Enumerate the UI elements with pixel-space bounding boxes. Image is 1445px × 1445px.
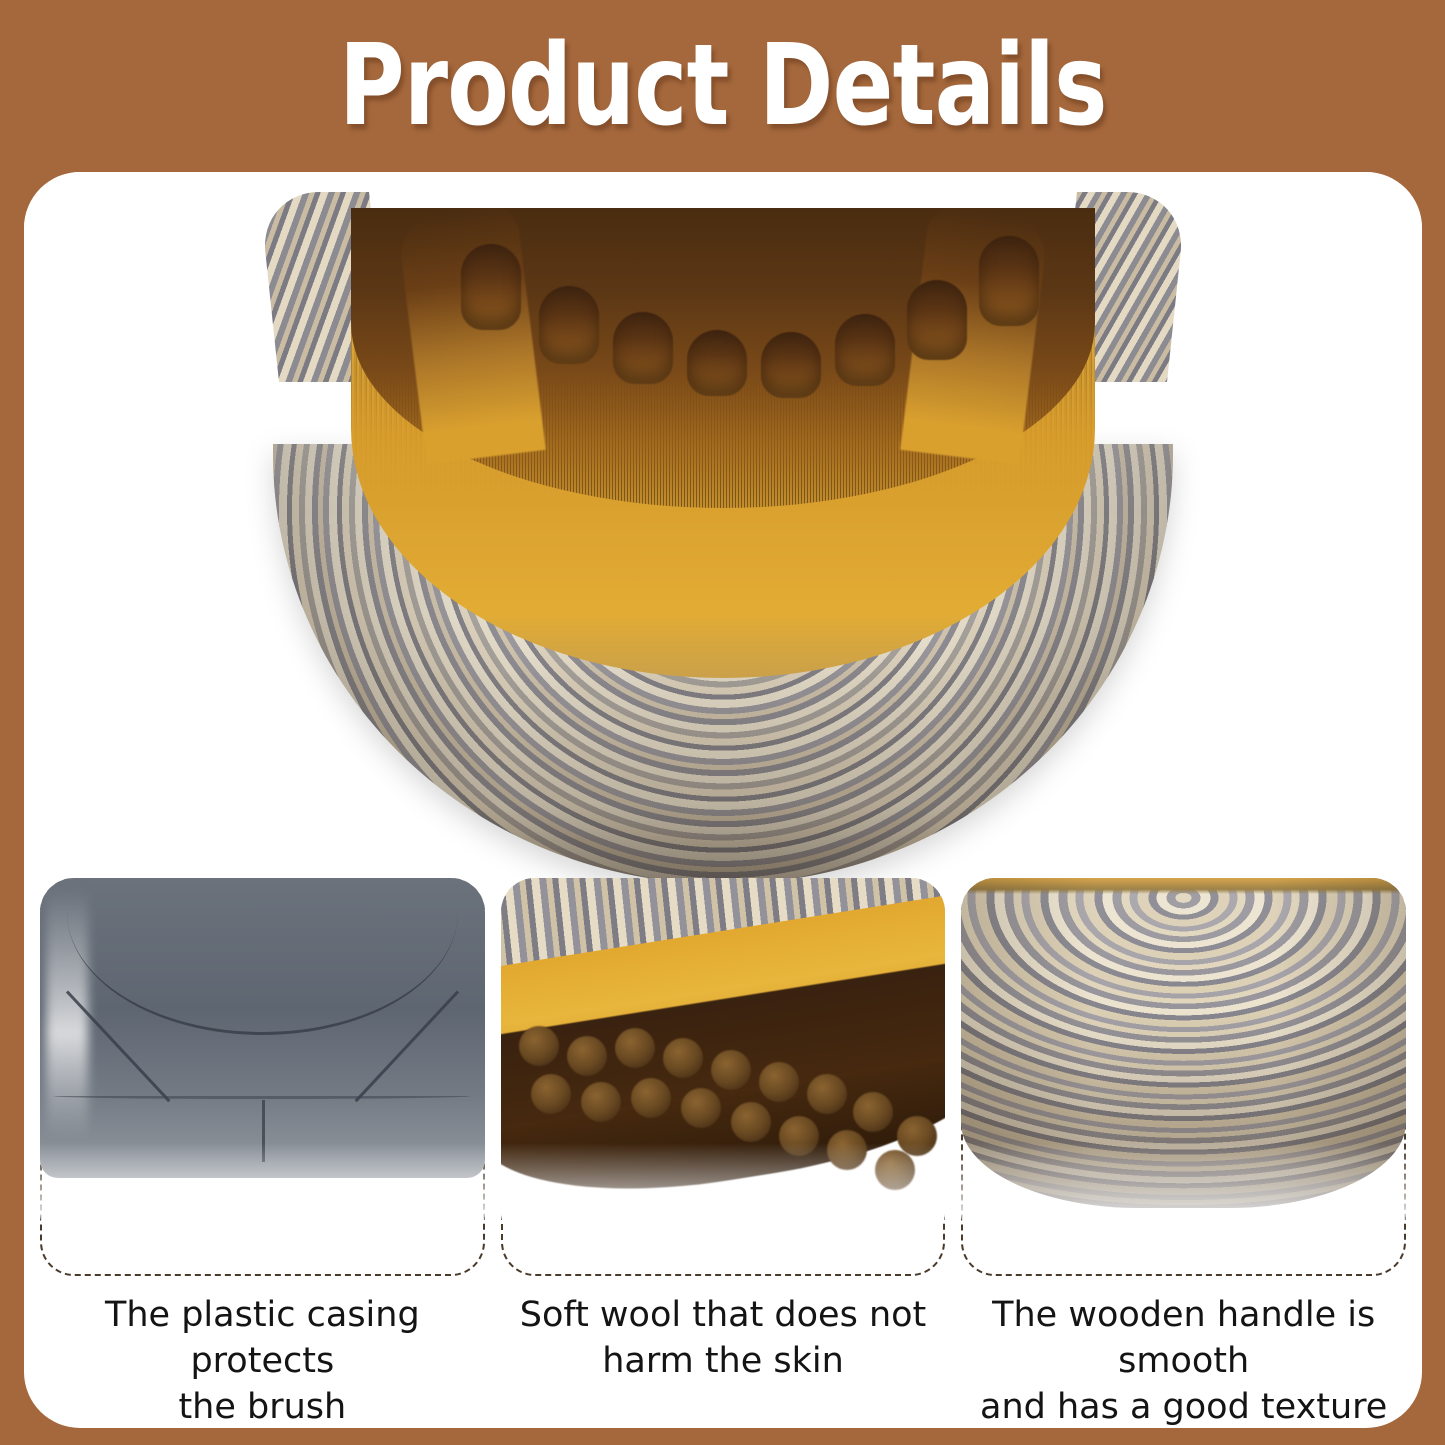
- bristle-nub: [897, 1116, 937, 1156]
- hero-image: [24, 172, 1422, 878]
- page-title: Product Details: [339, 30, 1107, 142]
- bristle-nub: [663, 1038, 703, 1078]
- wood-macro-gold-edge: [961, 878, 1406, 894]
- plastic-seam-diagonal-right: [355, 990, 459, 1102]
- brush-illustration: [273, 194, 1173, 878]
- bristle-nub: [875, 1150, 915, 1190]
- bristle-macro-scene: [501, 878, 946, 1246]
- bristle-nub: [531, 1074, 571, 1114]
- bristle-nub: [581, 1082, 621, 1122]
- wood-grain-macro: [961, 878, 1406, 1208]
- macro-wood-edge: [501, 878, 946, 1034]
- plastic-seam-vertical: [262, 1100, 265, 1162]
- plastic-cover-body: [40, 878, 485, 1178]
- plastic-seam-diagonal-left: [66, 990, 170, 1102]
- bristle-tuft: [539, 286, 599, 364]
- bristle-nub: [853, 1092, 893, 1132]
- macro-dark-bristles: [501, 958, 946, 1218]
- bristle-nub: [711, 1050, 751, 1090]
- bristle-tuft: [613, 312, 673, 384]
- feature-card-plastic-casing[interactable]: [40, 878, 485, 1276]
- gray-plastic-cover-photo: [40, 878, 485, 1246]
- feature-card-soft-wool[interactable]: [501, 878, 946, 1276]
- bristle-tuft: [835, 314, 895, 386]
- feature-thumbnail-row: [24, 878, 1422, 1278]
- caption-plastic-casing: The plastic casing protects the brush: [40, 1278, 485, 1428]
- caption-wooden-handle: The wooden handle is smooth and has a go…: [961, 1278, 1406, 1428]
- content-card: The plastic casing protects the brush So…: [24, 172, 1422, 1428]
- bristle-tuft: [461, 244, 521, 330]
- plastic-gloss-highlight: [46, 888, 88, 1138]
- bristle-nub: [519, 1026, 559, 1066]
- bristle-nub: [827, 1130, 867, 1170]
- wood-macro-shading: [961, 878, 1406, 1208]
- bristle-nub: [567, 1036, 607, 1076]
- bristle-tuft: [979, 236, 1039, 326]
- bristle-closeup-photo: [501, 878, 946, 1246]
- bristle-nub: [731, 1102, 771, 1142]
- bristle-nub: [681, 1088, 721, 1128]
- plastic-seam-base: [53, 1096, 471, 1099]
- macro-gold-bristles: [501, 892, 946, 1088]
- feature-card-wooden-handle[interactable]: [961, 878, 1406, 1276]
- wood-grain-closeup-photo: [961, 878, 1406, 1246]
- bristle-nub: [631, 1078, 671, 1118]
- bristle-tuft: [687, 330, 747, 396]
- bristle-nub: [615, 1028, 655, 1068]
- feature-caption-row: The plastic casing protects the brush So…: [24, 1278, 1422, 1428]
- bristle-tuft: [907, 280, 967, 360]
- product-details-page: Product Details: [0, 0, 1445, 1445]
- title-bar: Product Details: [0, 0, 1445, 172]
- caption-soft-wool: Soft wool that does not harm the skin: [501, 1278, 946, 1428]
- bristle-nub: [759, 1062, 799, 1102]
- plastic-seam-arc: [67, 912, 458, 1035]
- bristle-tuft: [761, 332, 821, 398]
- bristle-nub: [779, 1116, 819, 1156]
- bristle-nub: [807, 1074, 847, 1114]
